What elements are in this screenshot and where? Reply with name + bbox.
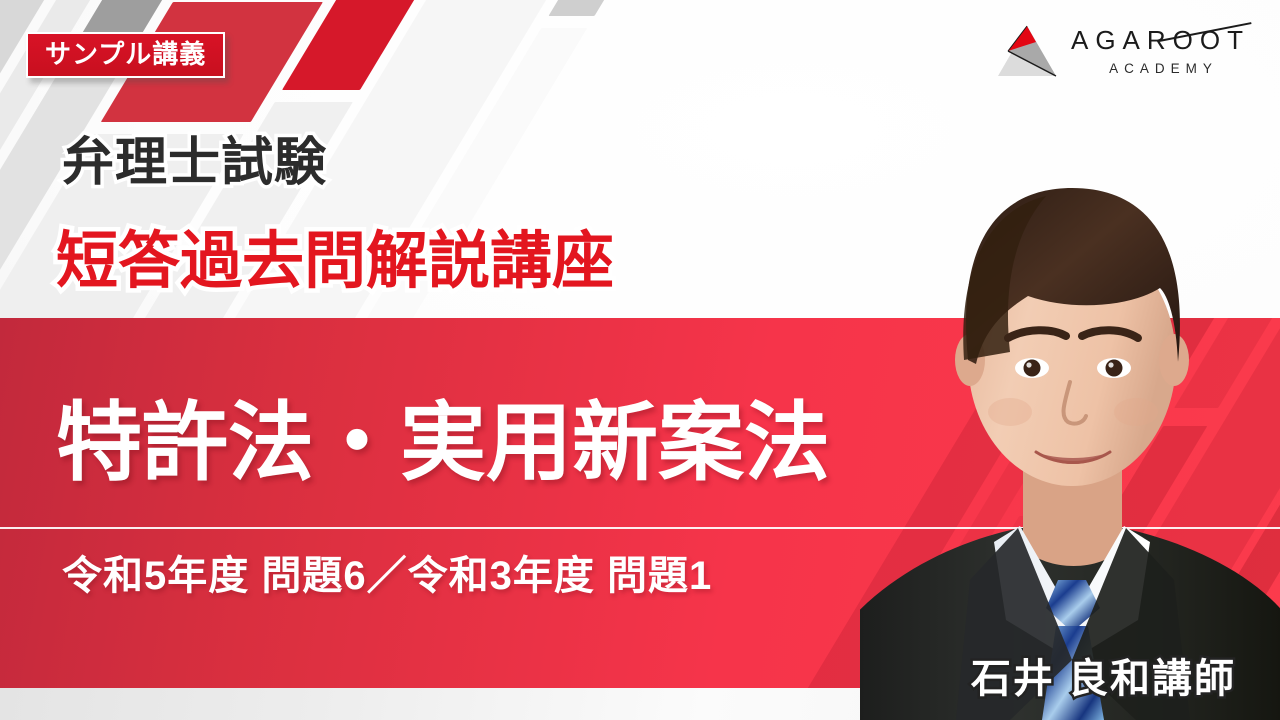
instructor-illustration xyxy=(860,60,1280,720)
exam-title: 弁理士試験 xyxy=(62,120,327,195)
sample-lecture-badge: サンプル講義 xyxy=(26,32,225,78)
instructor-photo xyxy=(860,60,1280,720)
logo-word-agaroot: AGAROOT xyxy=(1071,27,1250,53)
video-thumbnail: サンプル講義 AGAROOT ACADEMY 弁理士試験 短答過去問解説講座 xyxy=(0,0,1280,720)
instructor-name: 石井 良和講師 xyxy=(971,646,1236,704)
question-subtitle: 令和5年度 問題6／令和3年度 問題1 xyxy=(62,543,712,601)
law-title: 特許法・実用新案法 xyxy=(56,372,830,497)
course-title: 短答過去問解説講座 xyxy=(56,210,614,300)
